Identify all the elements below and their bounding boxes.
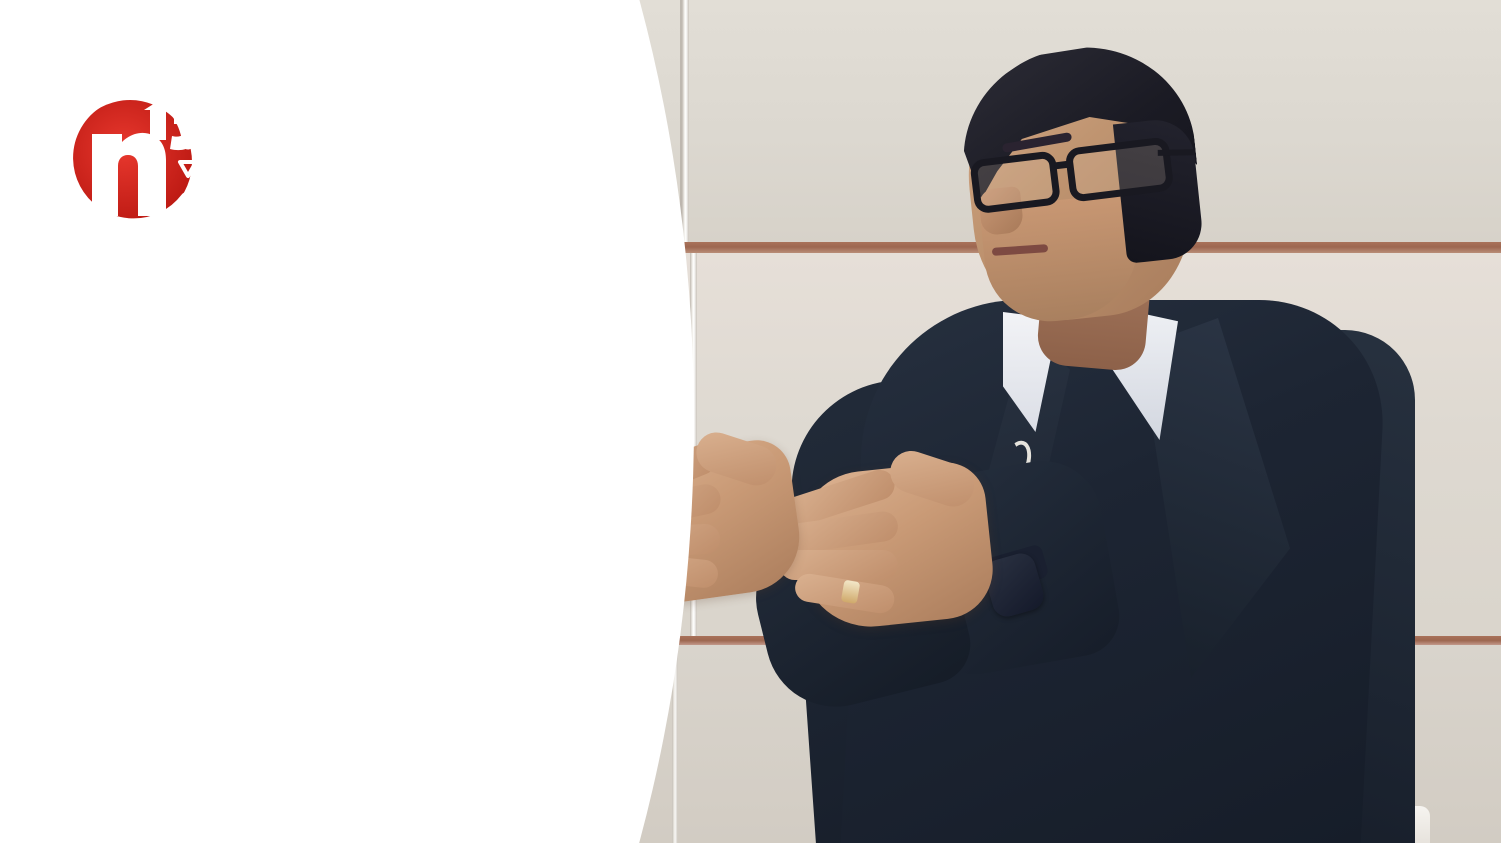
- brand-line-noticias: NOTICIAS: [240, 163, 483, 213]
- guest-role: Representante RENATA y docente de la Uni…: [30, 481, 522, 592]
- canal-line-2: TRECE: [154, 767, 264, 798]
- guest-role-line-3: de Costa Rica: [30, 555, 522, 592]
- finger: [780, 550, 898, 580]
- brand-line-trece: TRECE: [240, 102, 483, 159]
- segment-title: CONVERSAMOS: [62, 300, 502, 349]
- hand-right: [792, 458, 997, 633]
- canal-line-1: CANAL: [154, 736, 264, 766]
- eyeglass-lens-right: [1065, 136, 1175, 202]
- thumb: [691, 427, 781, 490]
- 13-circle-logo-icon: [58, 725, 140, 807]
- guest-name: Jean Carlo Córdoba: [30, 438, 522, 478]
- canal-wordmark: CANAL TRECE: [154, 734, 264, 798]
- eyeglass-lens-left: [969, 150, 1061, 214]
- brand-wordmark: TRECE NOTICIAS: [240, 96, 483, 213]
- guest-role-line-1: Representante RENATA y: [30, 481, 522, 518]
- trece-noticias-lockup: TRECE NOTICIAS: [58, 72, 483, 237]
- canal-trece-lockup: CANAL TRECE: [58, 725, 264, 807]
- guest-role-line-2: docente de la Universidad: [30, 518, 522, 555]
- section-divider: [62, 278, 494, 281]
- guest-info-block: Jean Carlo Córdoba Representante RENATA …: [30, 438, 522, 592]
- broadcast-lower-third-graphic: TRECE NOTICIAS CONVERSAMOS Jean Carlo Có…: [0, 0, 1501, 843]
- eyeglass-temple: [1158, 149, 1194, 156]
- n13-circle-logo-icon: [58, 72, 218, 237]
- overlay-content: TRECE NOTICIAS CONVERSAMOS Jean Carlo Có…: [0, 0, 560, 843]
